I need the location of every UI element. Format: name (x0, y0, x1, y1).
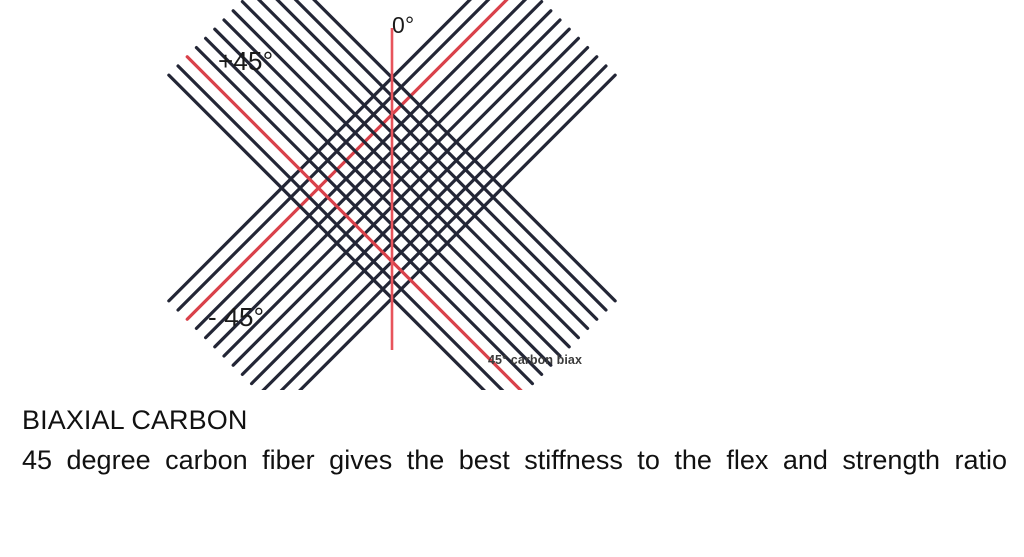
description-block: BIAXIAL CARBON 45 degree carbon fiber gi… (22, 400, 1012, 520)
diagram-caption: 45° carbon biax (488, 353, 582, 367)
angle-label-minus45deg: - 45° (208, 302, 264, 333)
fiber-weave-diagram: 0° +45° - 45° 45° carbon biax (0, 0, 1024, 390)
angle-label-plus45deg: +45° (218, 46, 273, 77)
description-paragraph: 45 degree carbon fiber gives the best st… (22, 440, 1007, 520)
weave-illustration (0, 0, 1024, 390)
angle-label-0deg: 0° (392, 12, 414, 39)
page-title: BIAXIAL CARBON (22, 400, 1012, 440)
